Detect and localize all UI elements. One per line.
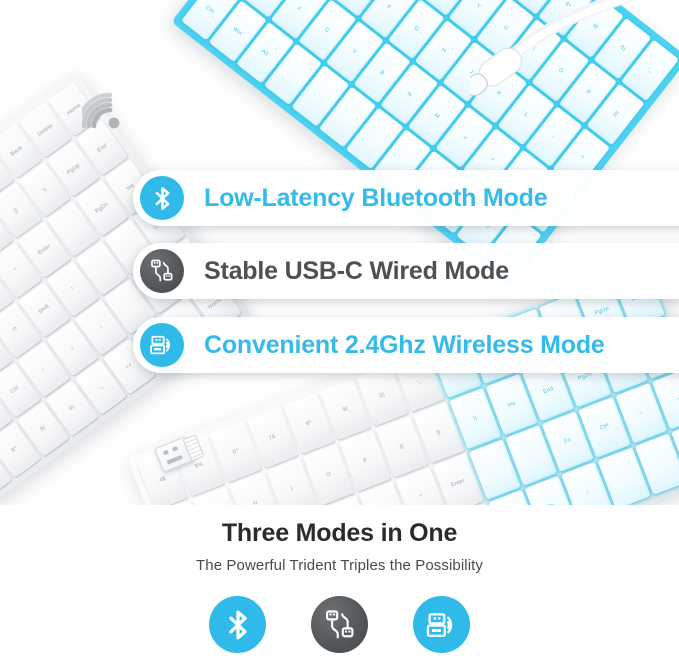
feature-banner-wireless[interactable]: Convenient 2.4Ghz Wireless Mode (133, 317, 679, 373)
wifi-signal-icon (82, 74, 144, 138)
footer-icon-row (0, 596, 679, 653)
bluetooth-icon (209, 596, 266, 653)
dongle-pin (172, 446, 178, 452)
usb-cable-glyph (322, 607, 358, 643)
dongle-pin (163, 450, 169, 456)
feature-banner-label: Convenient 2.4Ghz Wireless Mode (204, 331, 605, 360)
page-title: Three Modes in One (0, 519, 679, 548)
footer-section: Three Modes in One The Powerful Trident … (0, 505, 679, 663)
wireless-dongle-icon (140, 323, 184, 367)
feature-banner-bluetooth[interactable]: Low-Latency Bluetooth Mode (133, 170, 679, 226)
product-feature-image: Esc1!2@3#4$5%6^7&8*9(0)-_TabQWERTYUIOP[{… (0, 0, 679, 663)
wireless-dongle-glyph (148, 331, 176, 359)
dongle-pin (167, 455, 183, 465)
wifi-dot (109, 118, 120, 129)
page-subtitle: The Powerful Trident Triples the Possibi… (0, 557, 679, 574)
wireless-dongle-icon (413, 596, 470, 653)
feature-banner-label: Stable USB-C Wired Mode (204, 257, 509, 286)
bluetooth-glyph (149, 185, 176, 212)
hero-photo-area: Esc1!2@3#4$5%6^7&8*9(0)-_TabQWERTYUIOP[{… (0, 0, 679, 505)
usb-cable-glyph (148, 257, 176, 285)
usb-cable-icon (140, 249, 184, 293)
feature-banner-usbc[interactable]: Stable USB-C Wired Mode (133, 243, 679, 299)
bluetooth-glyph (221, 608, 255, 642)
wireless-dongle-glyph (424, 607, 460, 643)
bluetooth-icon (140, 176, 184, 220)
feature-banner-label: Low-Latency Bluetooth Mode (204, 184, 547, 213)
usb-cable-icon (311, 596, 368, 653)
